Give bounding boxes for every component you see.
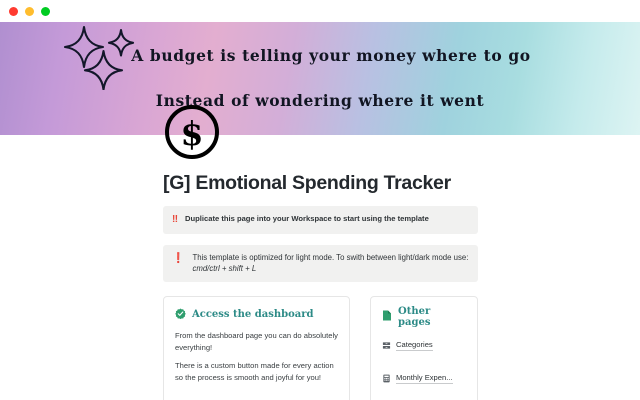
double-exclamation-icon: ‼: [172, 213, 177, 227]
svg-text:$: $: [181, 114, 204, 153]
page-link-categories-label: Categories: [396, 340, 433, 351]
callout-light-mode-text: This template is optimized for light mod…: [192, 252, 469, 275]
callout-light-mode-shortcut: cmd/ctrl + shift + L: [192, 264, 256, 273]
window-minimize-button[interactable]: [25, 7, 34, 16]
page-cover-banner: A budget is telling your money where to …: [0, 22, 640, 135]
callout-duplicate-page: ‼ Duplicate this page into your Workspac…: [163, 206, 478, 234]
sparkles-icon: [58, 24, 144, 95]
card-access-dashboard: Access the dashboard From the dashboard …: [163, 296, 350, 400]
callout-light-mode: ❗ This template is optimized for light m…: [163, 245, 478, 282]
card-access-dashboard-paragraph-2: There is a custom button made for every …: [175, 360, 338, 384]
window-titlebar: [0, 0, 640, 22]
calculator-icon: [382, 370, 391, 388]
page-document-icon: [382, 308, 392, 326]
card-other-pages: Other pages Categories: [370, 296, 478, 400]
page-link-monthly-expenses-label: Monthly Expen...: [396, 373, 453, 384]
card-access-dashboard-paragraph-1: From the dashboard page you can do absol…: [175, 330, 338, 354]
window-close-button[interactable]: [9, 7, 18, 16]
card-access-dashboard-header: Access the dashboard: [175, 306, 338, 324]
page-body: [G] Emotional Spending Tracker ‼ Duplica…: [0, 172, 640, 400]
callout-duplicate-text: Duplicate this page into your Workspace …: [185, 213, 429, 227]
filing-cabinet-icon: [382, 337, 391, 355]
page-link-dashboard[interactable]: Dashboard: [175, 396, 338, 400]
other-pages-list: Categories: [382, 337, 466, 400]
page-link-monthly-expenses[interactable]: Monthly Expen...: [382, 370, 466, 388]
card-access-dashboard-title: Access the dashboard: [192, 309, 314, 320]
exclamation-icon: ❗: [172, 252, 184, 275]
card-other-pages-title: Other pages: [398, 306, 466, 328]
check-circle-icon: [175, 306, 186, 324]
card-other-pages-header: Other pages: [382, 306, 466, 328]
gauge-icon: [175, 396, 184, 400]
dollar-circle-icon: $: [163, 103, 221, 161]
callout-light-mode-main: This template is optimized for light mod…: [192, 253, 468, 262]
window-maximize-button[interactable]: [41, 7, 50, 16]
content-column: [G] Emotional Spending Tracker ‼ Duplica…: [163, 172, 478, 400]
cards-row: Access the dashboard From the dashboard …: [163, 296, 478, 400]
page-title: [G] Emotional Spending Tracker: [163, 172, 478, 195]
page-link-categories[interactable]: Categories: [382, 337, 466, 355]
